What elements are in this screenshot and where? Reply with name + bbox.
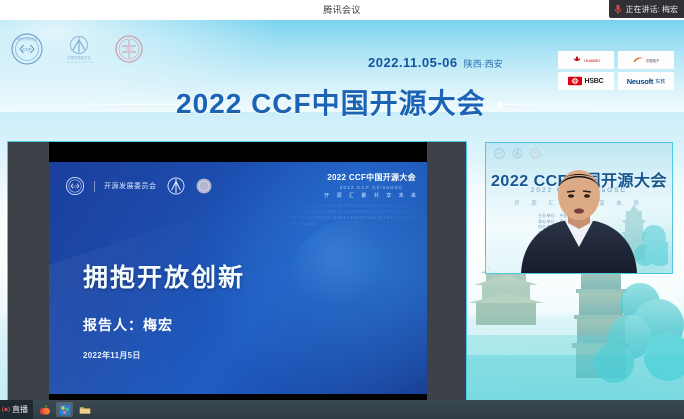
conference-date-location: 2022.11.05-06 陕西·西安 — [368, 55, 503, 70]
svg-text:CCF: CCF — [72, 184, 78, 188]
title-rule-right — [500, 104, 620, 105]
xjtu-logo-icon — [114, 34, 144, 64]
slide-diagonal-highlight — [49, 213, 272, 394]
svg-text:开源发展委员会: 开源发展委员会 — [67, 55, 91, 60]
peach-app-icon — [39, 404, 51, 416]
presentation-slide: 0100101110010110100101101001011010010110… — [49, 162, 427, 394]
microphone-icon — [614, 4, 622, 15]
slide-ccf-logo-icon: CCF — [65, 176, 85, 196]
speaking-indicator: 正在讲话: 梅宏 — [609, 0, 684, 18]
slide-date: 2022年11月5日 — [83, 350, 141, 361]
slide-corner-title: 2022 CCF中国开源大会 — [324, 172, 419, 183]
taskbar-app-chart[interactable] — [56, 402, 73, 417]
sponsor-neusoft-label: Neusoft — [627, 77, 654, 86]
folder-icon — [79, 404, 91, 416]
slide-main-title: 拥抱开放创新 — [83, 258, 245, 294]
conference-title: 2022 CCF中国开源大会 — [176, 82, 486, 122]
taskbar-live-label: 直播 — [12, 404, 28, 415]
slide-logo-row: CCF 开源发展委员会 — [65, 176, 213, 196]
svg-text:OPEN SOURCE COMMITTEE: OPEN SOURCE COMMITTEE — [64, 62, 94, 64]
sponsor-huawei-label: HUAWEI — [584, 58, 600, 63]
sponsor-neusoft-sub: 东软 — [655, 78, 665, 85]
sponsor-neusoft: Neusoft 东软 — [618, 72, 674, 90]
svg-text:CCF: CCF — [22, 47, 31, 52]
title-rule-left — [0, 104, 180, 105]
conference-date: 2022.11.05-06 — [368, 55, 458, 70]
hsbc-hexagon-icon — [568, 76, 582, 86]
video-ccf-logo-icon — [494, 148, 505, 159]
slide-open-source-logo-icon — [166, 176, 186, 196]
cec-swoosh-icon — [633, 56, 644, 64]
participant-video-tile[interactable]: 2022 CCF中国开源大会 2022 CCF ChinaOSC 开 源 汇 聚… — [485, 142, 673, 274]
speaking-label: 正在讲话: 梅宏 — [626, 4, 678, 15]
huawei-flower-icon — [572, 55, 582, 65]
conference-backdrop: CCF 中国计算机学会 开源发展委员会 OPEN SOURCE COMMITTE… — [0, 20, 684, 400]
sponsor-logos: HUAWEI 中国电子 HSBC Neusoft 东软 — [558, 51, 674, 90]
slide-corner-branding: 2022 CCF中国开源大会 2022 CCF ChinaOSC 开 源 汇 聚… — [324, 172, 419, 199]
chart-app-icon — [59, 404, 71, 416]
window-title-bar: 腾讯会议 正在讲话: 梅宏 — [0, 0, 684, 20]
slide-committee-label: 开源发展委员会 — [104, 181, 157, 191]
svg-text:中国计算机学会: 中国计算机学会 — [16, 36, 37, 41]
slide-binary-texture: 0100101110010110100101101001011010010110… — [271, 204, 421, 324]
os-taskbar[interactable]: 直播 — [0, 400, 684, 419]
slide-corner-sub-cn: 开 源 汇 聚 共 享 未 来 — [324, 192, 419, 199]
video-open-source-logo-icon — [512, 148, 523, 159]
taskbar-app-peach[interactable] — [36, 402, 53, 417]
video-bg-logos — [494, 148, 541, 159]
ccf-logo-icon: CCF 中国计算机学会 — [10, 32, 44, 66]
organizer-logos: CCF 中国计算机学会 开源发展委员会 OPEN SOURCE COMMITTE… — [10, 32, 144, 66]
window-title: 腾讯会议 — [0, 3, 684, 16]
broadcast-icon — [2, 405, 10, 414]
taskbar-live-item[interactable]: 直播 — [0, 400, 33, 419]
sponsor-huawei: HUAWEI — [558, 51, 614, 69]
slide-logo-divider — [94, 181, 95, 192]
video-tile-corner-mark: ▫ — [488, 266, 489, 271]
video-xjtu-logo-icon — [530, 148, 541, 159]
slide-corner-sub-en: 2022 CCF ChinaOSC — [324, 185, 419, 190]
sponsor-hsbc-label: HSBC — [584, 78, 603, 85]
sponsor-cec: 中国电子 — [618, 51, 674, 69]
sponsor-hsbc: HSBC — [558, 72, 614, 90]
sponsor-cec-label: 中国电子 — [646, 58, 660, 63]
participant-silhouette — [513, 169, 645, 273]
conference-location: 陕西·西安 — [464, 57, 503, 70]
open-source-committee-logo-icon: 开源发展委员会 OPEN SOURCE COMMITTEE — [60, 34, 98, 64]
taskbar-app-folder[interactable] — [76, 402, 93, 417]
shared-screen-panel[interactable]: 0100101110010110100101101001011010010110… — [7, 141, 467, 400]
slide-speaker: 报告人：梅宏 — [83, 315, 173, 335]
meeting-screen: 腾讯会议 正在讲话: 梅宏 — [0, 0, 684, 419]
slide-xjtu-logo-icon — [195, 177, 213, 195]
